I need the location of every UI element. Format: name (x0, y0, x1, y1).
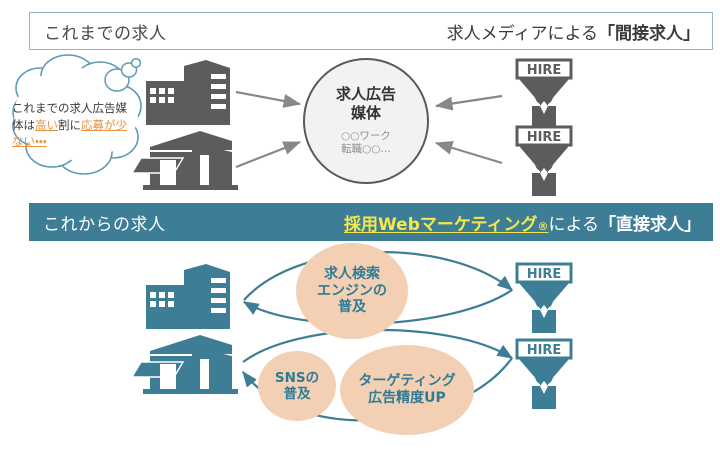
svg-text:HIRE: HIRE (527, 130, 562, 145)
past-caption-prefix: 求人メディアによる (447, 19, 598, 44)
media-title-line1: 求人広告 (336, 85, 396, 104)
past-section-label: これまでの求人 (44, 19, 167, 44)
factor-circle-sns: SNSの 普及 (258, 351, 336, 421)
bubble-line1: これまでの求人広 (12, 101, 104, 115)
media-title-line2: 媒体 (336, 104, 396, 123)
diagram-canvas: これまでの求人 求人メディアによる「間接求人」 これからの求人 採用Webマーケ… (0, 0, 720, 457)
hire-person-icon-gray-bottom: HIRE (517, 127, 571, 196)
bubble-line3-ellipsis: ・・・ (35, 134, 47, 148)
factor3-line2: 広告精度UP (358, 390, 455, 407)
thought-bubble-text: これまでの求人広告媒体は高い割に応募が少ない・・・ (12, 100, 134, 150)
factor3-line1: ターゲティング (358, 373, 455, 390)
future-section-label: これからの求人 (43, 210, 166, 235)
svg-text:HIRE: HIRE (527, 63, 562, 78)
factor1-line3: 普及 (317, 299, 387, 316)
hire-person-icon-gray-top: HIRE (517, 60, 571, 129)
factor-circle-targeting-ads: ターゲティング 広告精度UP (340, 345, 474, 435)
media-circle-subtitle: ○○ワーク 転職○○… (341, 130, 391, 157)
factor2-line2: 普及 (275, 386, 319, 402)
future-caption-highlight: 採用Webマーケティング (344, 210, 537, 235)
future-section-caption: 採用Webマーケティング®による「直接求人」 (344, 210, 701, 235)
future-section-header-bar: これからの求人 採用Webマーケティング®による「直接求人」 (29, 203, 713, 241)
svg-text:HIRE: HIRE (527, 267, 562, 282)
hire-person-icon-teal-bottom: HIRE (517, 340, 571, 409)
factor2-line1: SNSの (275, 370, 319, 386)
bubble-line2-highlight: 高い (35, 118, 58, 132)
thought-bubble-tail-bubbles (105, 59, 141, 91)
future-caption-bold: 「直接求人」 (599, 210, 701, 235)
office-building-icon-teal (146, 264, 230, 329)
factor-circle-job-search-engine: 求人検索 エンジンの 普及 (296, 243, 408, 339)
past-section-caption: 求人メディアによる「間接求人」 (447, 19, 700, 44)
bubble-line2-b: 割に (58, 118, 81, 132)
factor1-line2: エンジンの (317, 283, 387, 300)
past-caption-bold: 「間接求人」 (598, 19, 700, 44)
registered-trademark-icon: ® (538, 220, 549, 233)
arrow-hire-top-to-media (436, 96, 502, 106)
shop-building-icon-teal (132, 335, 238, 394)
media-circle-title: 求人広告 媒体 (336, 85, 396, 123)
office-building-icon-gray (146, 60, 230, 125)
media-sub-line2: 転職○○… (341, 143, 391, 157)
arrow-shop-to-media (236, 142, 300, 167)
svg-text:HIRE: HIRE (527, 343, 562, 358)
hire-person-icon-teal-top: HIRE (517, 264, 571, 333)
arrow-hire-bottom-to-media (436, 143, 502, 163)
arrow-office-to-media (236, 92, 300, 104)
future-caption-mid: による (549, 210, 600, 235)
job-ad-media-circle: 求人広告 媒体 ○○ワーク 転職○○… (303, 58, 429, 184)
past-section-header-bar: これまでの求人 求人メディアによる「間接求人」 (29, 12, 713, 50)
media-sub-line1: ○○ワーク (341, 130, 391, 144)
shop-building-icon-gray (132, 131, 238, 190)
factor1-line1: 求人検索 (317, 266, 387, 283)
